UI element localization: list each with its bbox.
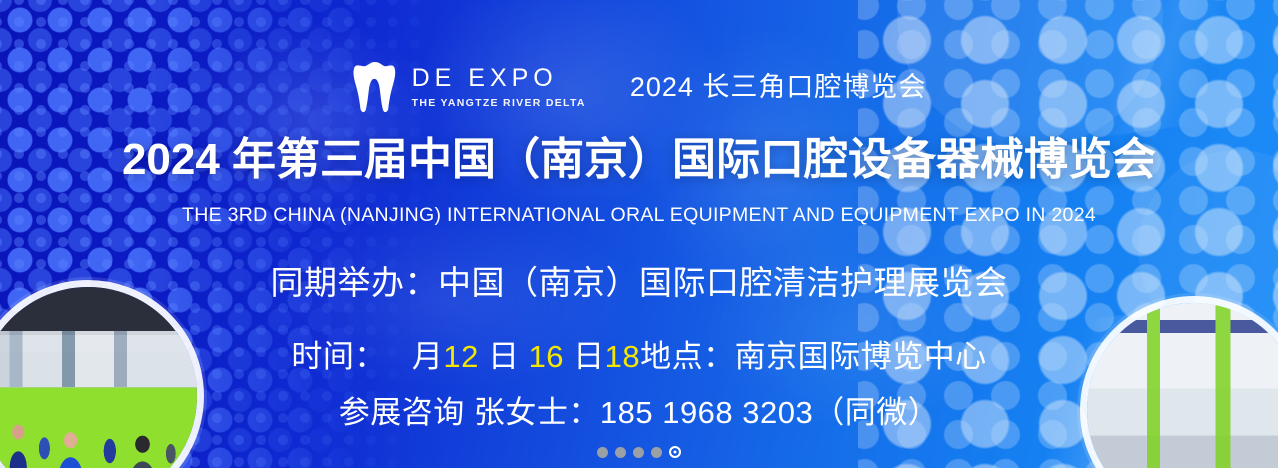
carousel-dot-5-active[interactable] xyxy=(669,446,681,458)
banner-content: DE EXPO THE YANGTZE RIVER DELTA 2024 长三角… xyxy=(0,0,1278,468)
date-number-2: 16 xyxy=(529,339,564,374)
page-title-chinese: 2024 年第三届中国（南京）国际口腔设备器械博览会 xyxy=(0,136,1278,184)
place-label: 地点： xyxy=(640,339,735,374)
month-char: 月 xyxy=(412,339,444,374)
carousel-dot-4[interactable] xyxy=(651,447,662,458)
date-number-3: 18 xyxy=(605,339,640,374)
logo-text-block: DE EXPO THE YANGTZE RIVER DELTA xyxy=(412,66,586,109)
logo-chinese-event-name: 2024 长三角口腔博览会 xyxy=(630,74,927,101)
place-value: 南京国际博览中心 xyxy=(735,339,987,374)
concurrent-event-line: 同期举办：中国（南京）国际口腔清洁护理展览会 xyxy=(0,265,1278,301)
carousel-indicators[interactable] xyxy=(0,446,1278,458)
logo-brand: DE EXPO xyxy=(412,66,586,91)
carousel-dot-1[interactable] xyxy=(597,447,608,458)
info-line: 时间：月12 日 16 日18地点：南京国际博览中心 xyxy=(0,340,1278,374)
expo-logo: DE EXPO THE YANGTZE RIVER DELTA xyxy=(352,58,586,116)
tooth-icon xyxy=(352,58,398,116)
date-number-1: 12 xyxy=(443,339,478,374)
logo-row: DE EXPO THE YANGTZE RIVER DELTA 2024 长三角… xyxy=(0,58,1278,116)
expo-banner: DE EXPO THE YANGTZE RIVER DELTA 2024 长三角… xyxy=(0,0,1278,468)
carousel-dot-2[interactable] xyxy=(615,447,626,458)
contact-line: 参展咨询 张女士：185 1968 3203（同微） xyxy=(0,396,1278,430)
page-title-english: THE 3RD CHINA (NANJING) INTERNATIONAL OR… xyxy=(0,205,1278,226)
logo-tagline: THE YANGTZE RIVER DELTA xyxy=(412,98,586,109)
carousel-dot-3[interactable] xyxy=(633,447,644,458)
time-label: 时间： xyxy=(291,339,386,374)
day-char-2: 日 xyxy=(573,339,605,374)
day-char-1: 日 xyxy=(488,339,520,374)
